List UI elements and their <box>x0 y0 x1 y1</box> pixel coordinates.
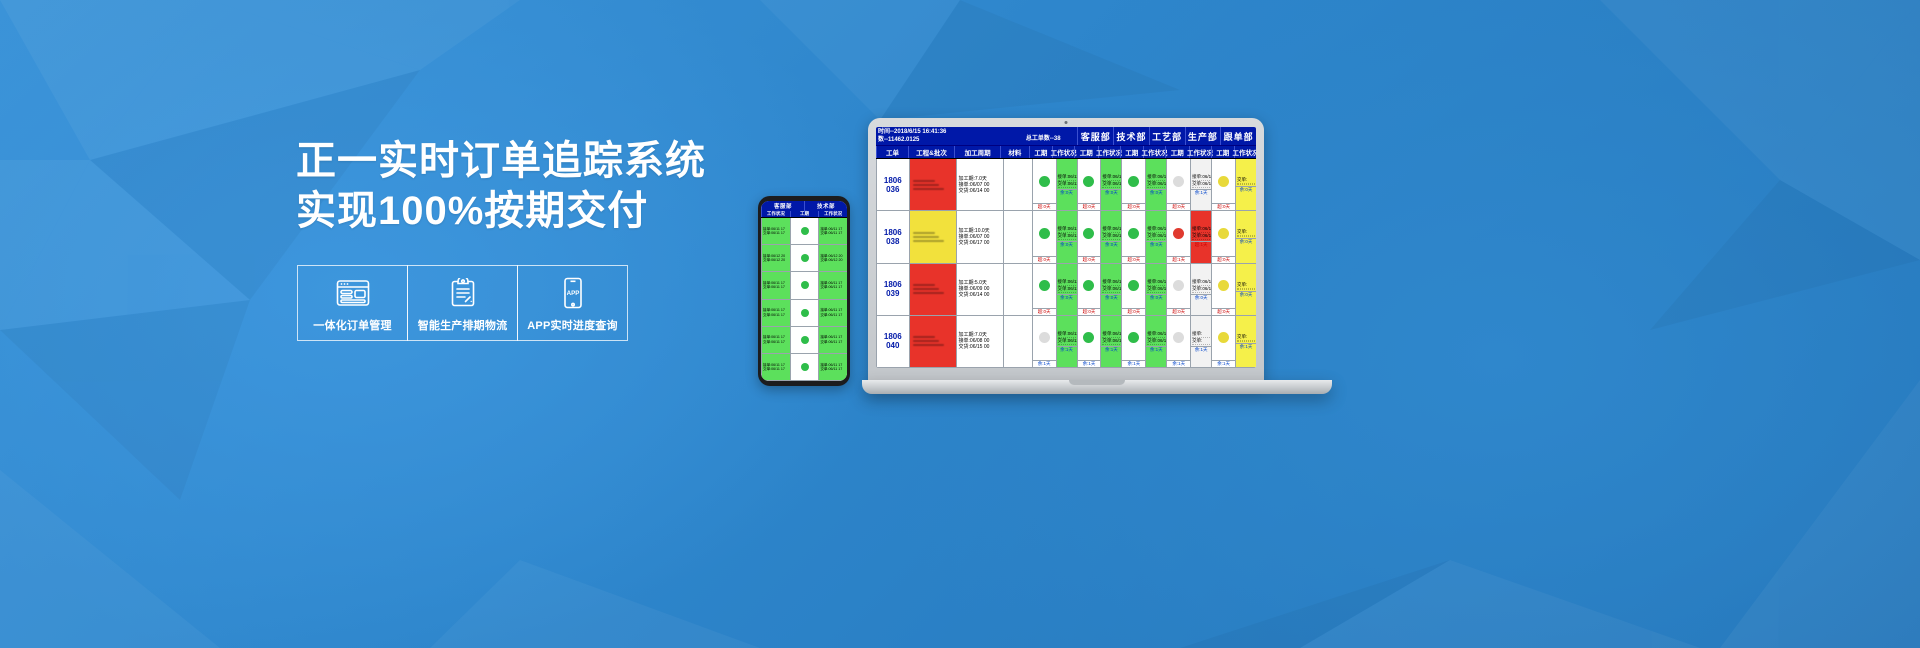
status-dot-icon <box>801 363 809 371</box>
status-dot-icon <box>1083 176 1094 187</box>
dept-status-cell[interactable]: 接单:06/12 20交单:06/12 20余:0天 <box>1056 211 1077 262</box>
dept-header: 工艺部 <box>1149 127 1185 145</box>
feature-label: 一体化订单管理 <box>313 317 391 333</box>
phone-grid-cell[interactable] <box>791 218 819 245</box>
duration-tag: 余:1天 <box>1078 360 1101 367</box>
phone-grid-cell[interactable]: 接单:06/11 17交单:06/11 17 <box>819 218 847 245</box>
dept-duration-cell[interactable]: 余:1天 <box>1166 316 1190 367</box>
column-header: 材料 <box>1000 146 1028 158</box>
status-dot-icon <box>1173 332 1184 343</box>
dept-status-cell[interactable]: 接单:06/11 17交单:06/11 17余:0天 <box>1100 264 1121 315</box>
laptop-screen: 时间--2018/6/15 16:41:36 数--11462.0125 总工单… <box>876 127 1256 368</box>
status-dot-icon <box>1083 280 1094 291</box>
column-header: 工作状况 <box>1189 146 1211 158</box>
duration-tag: 余:1天 <box>1033 360 1056 367</box>
duration-tag: 超:1天 <box>1167 256 1190 263</box>
status-dot-icon <box>1128 176 1139 187</box>
duration-tag: 超:0天 <box>1122 308 1145 315</box>
feature-label: 智能生产排期物流 <box>418 317 508 333</box>
column-header: 工作状况 <box>1143 146 1165 158</box>
phone-grid-cell[interactable]: 接单:06/11 17交单:06/11 17 <box>762 300 790 327</box>
table-row[interactable]: 1806038加工期:10.0天接单:06/07 00交货:06/17 00超:… <box>876 211 1256 263</box>
phone-grid-column[interactable] <box>790 218 819 381</box>
status-dot-icon <box>801 281 809 289</box>
phone-grid-cell[interactable] <box>791 327 819 354</box>
duration-tag: 超:0天 <box>1212 203 1235 210</box>
status-tag: 余:0天 <box>1146 189 1166 196</box>
column-header: 工作状况 <box>1234 146 1256 158</box>
column-header: 工单 <box>876 146 908 158</box>
phone-dept: 客服部 <box>761 201 804 211</box>
material-cell[interactable] <box>1003 316 1032 367</box>
phone-screen: 客服部 技术部 工作状况 工期 工作状况 接单:06/11 17交单:06/11… <box>761 201 847 381</box>
headline-line-2: 实现100%按期交付 <box>296 186 816 236</box>
status-tag: 余:0天 <box>1236 291 1256 298</box>
dept-status-cell[interactable]: 交单:余:0天 <box>1235 211 1256 262</box>
order-tracking-dashboard: 时间--2018/6/15 16:41:36 数--11462.0125 总工单… <box>876 127 1256 368</box>
project-batch-cell[interactable] <box>909 264 956 315</box>
dept-duration-cell[interactable]: 超:0天 <box>1032 159 1056 210</box>
duration-tag: 超:0天 <box>1078 256 1101 263</box>
status-tag: 余:1天 <box>1146 346 1166 353</box>
status-tag: 余:0天 <box>1057 294 1077 301</box>
status-dot-icon <box>1128 332 1139 343</box>
phone-grid-cell[interactable]: 接单:06/12 20交单:06/12 20 <box>819 245 847 272</box>
clipboard-pen-icon <box>449 278 477 308</box>
dept-status-cell[interactable]: 接单:06/11 17交单:06/11 17余:0天 <box>1145 159 1166 210</box>
status-tag: 余:0天 <box>1146 241 1166 248</box>
status-dot-icon <box>801 254 809 262</box>
dashboard-count: 数--11462.0125 <box>878 136 1007 144</box>
phone-grid-cell[interactable]: 接单:06/11 17交单:06/11 17 <box>819 272 847 299</box>
dept-header: 生产部 <box>1185 127 1221 145</box>
duration-tag: 超:0天 <box>1212 256 1235 263</box>
dept-duration-cell[interactable]: 余:1天 <box>1121 316 1145 367</box>
dept-status-cell[interactable]: 交单:余:1天 <box>1235 316 1256 367</box>
dept-status-cell[interactable]: 交单:余:0天 <box>1235 159 1256 210</box>
duration-tag: 超:0天 <box>1033 203 1056 210</box>
dept-header-row: 客服部技术部工艺部生产部跟单部 <box>1077 127 1256 145</box>
status-tag: 余:0天 <box>1236 238 1256 245</box>
status-tag: 余:0天 <box>1146 294 1166 301</box>
status-tag: 余:1天 <box>1101 346 1121 353</box>
duration-tag: 余:1天 <box>1212 360 1235 367</box>
status-dot-icon <box>1128 228 1139 239</box>
status-dot-icon <box>1083 228 1094 239</box>
status-tag: 超:1天 <box>1191 241 1211 248</box>
column-header: 工期 <box>1211 146 1234 158</box>
project-batch-cell[interactable] <box>909 159 956 210</box>
dept-duration-cell[interactable]: 超:0天 <box>1032 211 1056 262</box>
phone-grid-cell[interactable] <box>791 245 819 272</box>
dept-duration-cell[interactable]: 余:1天 <box>1032 316 1056 367</box>
phone-dept-header: 客服部 技术部 <box>761 201 847 211</box>
dept-status-cell[interactable]: 接单:06/11 17交单:06/11 17余:0天 <box>1056 264 1077 315</box>
dashboard-info: 时间--2018/6/15 16:41:36 数--11462.0125 <box>876 127 1009 145</box>
status-tag: 余:0天 <box>1057 241 1077 248</box>
dept-status-cell[interactable]: 接单:06/11 17交单:06/11 17余:1天 <box>1145 316 1166 367</box>
status-dot-icon <box>1218 332 1229 343</box>
duration-tag: 超:0天 <box>1212 308 1235 315</box>
dept-duration-cell[interactable]: 余:1天 <box>1211 316 1235 367</box>
status-tag: 余:1天 <box>1057 346 1077 353</box>
status-dot-icon <box>1039 176 1050 187</box>
svg-text:APP: APP <box>566 290 579 297</box>
mobile-app-icon: APP <box>561 278 585 308</box>
status-dot-icon <box>801 227 809 235</box>
phone-grid-column[interactable]: 接单:06/11 17交单:06/11 17接单:06/12 20交单:06/1… <box>818 218 847 381</box>
feature-item-app-progress-query[interactable]: APP APP实时进度查询 <box>517 265 628 341</box>
duration-tag: 超:0天 <box>1033 308 1056 315</box>
status-dot-icon <box>1173 280 1184 291</box>
status-dot-icon <box>1039 228 1050 239</box>
order-number-cell[interactable]: 1806040 <box>876 316 909 367</box>
phone-col: 工作状况 <box>818 211 847 217</box>
browser-window-icon <box>336 278 370 308</box>
phone-grid-cell[interactable] <box>791 354 819 381</box>
status-dot-icon <box>801 336 809 344</box>
duration-tag: 超:0天 <box>1122 203 1145 210</box>
phone-grid-cell[interactable]: 接单:06/12 20交单:06/12 20 <box>762 245 790 272</box>
headline-block: 正一实时订单追踪系统 实现100%按期交付 <box>296 136 816 236</box>
dashboard-time: 时间--2018/6/15 16:41:36 <box>878 128 1007 136</box>
order-number-cell[interactable]: 1806039 <box>876 264 909 315</box>
headline-line-1: 正一实时订单追踪系统 <box>296 136 816 186</box>
dept-duration-cell[interactable]: 超:0天 <box>1211 159 1235 210</box>
duration-tag: 超:0天 <box>1122 256 1145 263</box>
column-header-row: 工单工程&批次加工周期材料工期工作状况工期工作状况工期工作状况工期工作状况工期工… <box>876 146 1256 159</box>
dept-duration-cell[interactable]: 超:0天 <box>1211 264 1235 315</box>
project-batch-cell[interactable] <box>909 211 956 262</box>
column-header: 加工周期 <box>954 146 1000 158</box>
feature-item-production-scheduling[interactable]: 智能生产排期物流 <box>407 265 518 341</box>
table-row[interactable]: 1806036加工期:7.0天接单:06/07 00交货:06/14 00超:0… <box>876 159 1256 211</box>
processing-cycle-cell[interactable]: 加工期:10.0天接单:06/07 00交货:06/17 00 <box>956 211 1003 262</box>
status-dot-icon <box>1128 280 1139 291</box>
status-dot-icon <box>1083 332 1094 343</box>
duration-tag: 超:0天 <box>1078 203 1101 210</box>
duration-tag: 超:0天 <box>1167 203 1190 210</box>
phone-grid-cell[interactable]: 接单:06/11 17交单:06/11 17 <box>762 218 790 245</box>
order-number-cell[interactable]: 1806038 <box>876 211 909 262</box>
feature-item-order-management[interactable]: 一体化订单管理 <box>297 265 408 341</box>
phone-grid-column[interactable]: 接单:06/11 17交单:06/11 17接单:06/12 20交单:06/1… <box>761 218 790 381</box>
dept-duration-cell[interactable]: 超:0天 <box>1121 159 1145 210</box>
status-dot-icon <box>1173 228 1184 239</box>
dept-duration-cell[interactable]: 超:0天 <box>1032 264 1056 315</box>
dept-status-cell[interactable]: 接单:06/11 17交单:06/11 17余:0天 <box>1145 264 1166 315</box>
dashboard-topbar: 时间--2018/6/15 16:41:36 数--11462.0125 总工单… <box>876 127 1256 146</box>
status-tag: 余:1天 <box>1236 343 1256 350</box>
phone-col: 工作状况 <box>761 211 790 217</box>
material-cell[interactable] <box>1003 264 1032 315</box>
dept-status-cell[interactable]: 接单:06/13 10交单:06/14 00余:1天 <box>1190 159 1211 210</box>
processing-cycle-cell[interactable]: 加工期:5.0天接单:06/09 00交货:06/14 00 <box>956 264 1003 315</box>
phone-col-header: 工作状况 工期 工作状况 <box>761 211 847 218</box>
dept-duration-cell[interactable]: 超:0天 <box>1166 264 1190 315</box>
dept-status-cell[interactable]: 接单:06/14 00交单:06/14 14余:0天 <box>1145 211 1166 262</box>
status-dot-icon <box>1218 176 1229 187</box>
laptop-base <box>862 380 1332 394</box>
status-dot-icon <box>1173 176 1184 187</box>
phone-grid-cell[interactable]: 接单:06/11 17交单:06/11 17 <box>819 354 847 381</box>
phone-grid-cell[interactable]: 接单:06/11 17交单:06/11 17 <box>762 272 790 299</box>
dept-duration-cell[interactable]: 超:0天 <box>1077 159 1101 210</box>
total-orders: 总工单数--38 <box>1009 127 1077 145</box>
status-tag: 余:1天 <box>1191 346 1211 353</box>
promo-banner: 正一实时订单追踪系统 实现100%按期交付 一体化订单管理 <box>0 0 1920 648</box>
dept-status-cell[interactable]: 接单:06/14 14交单:06/16 00超:1天 <box>1190 211 1211 262</box>
laptop-mockup: 时间--2018/6/15 16:41:36 数--11462.0125 总工单… <box>862 118 1332 418</box>
phone-grid-cell[interactable]: 接单:06/11 17交单:06/11 17 <box>819 300 847 327</box>
status-dot-icon <box>1218 280 1229 291</box>
column-header: 工作状况 <box>1098 146 1120 158</box>
phone-grid-cell[interactable]: 接单:06/11 17交单:06/11 17 <box>762 354 790 381</box>
status-tag: 余:1天 <box>1191 189 1211 196</box>
status-dot-icon <box>1039 280 1050 291</box>
status-dot-icon <box>1218 228 1229 239</box>
status-tag: 余:0天 <box>1101 189 1121 196</box>
dept-duration-cell[interactable]: 超:0天 <box>1121 264 1145 315</box>
dept-duration-cell[interactable]: 余:1天 <box>1077 316 1101 367</box>
dept-status-cell[interactable]: 接单:06/11 17交单:06/11 17余:1天 <box>1056 316 1077 367</box>
duration-tag: 超:0天 <box>1167 308 1190 315</box>
status-dot-icon <box>801 309 809 317</box>
order-number-cell[interactable]: 1806036 <box>876 159 909 210</box>
processing-cycle-cell[interactable]: 加工期:7.0天接单:06/07 00交货:06/14 00 <box>956 159 1003 210</box>
phone-dept: 技术部 <box>804 201 847 211</box>
column-header: 工程&批次 <box>908 146 954 158</box>
dept-header: 客服部 <box>1077 127 1113 145</box>
duration-tag: 超:0天 <box>1033 256 1056 263</box>
dept-status-cell[interactable]: 接单:06/12 20交单:06/14 00余:0天 <box>1100 211 1121 262</box>
dept-status-cell[interactable]: 接单:06/12 09交单:06/12 09余:0天 <box>1190 264 1211 315</box>
dept-header: 跟单部 <box>1220 127 1256 145</box>
dept-duration-cell[interactable]: 超:0天 <box>1077 211 1101 262</box>
phone-grid[interactable]: 接单:06/11 17交单:06/11 17接单:06/12 20交单:06/1… <box>761 218 847 381</box>
phone-grid-cell[interactable] <box>791 300 819 327</box>
column-header: 工期 <box>1029 146 1052 158</box>
webcam-dot <box>1065 121 1068 124</box>
laptop-lid: 时间--2018/6/15 16:41:36 数--11462.0125 总工单… <box>868 118 1264 386</box>
dept-duration-cell[interactable]: 超:0天 <box>1121 211 1145 262</box>
phone-grid-cell[interactable]: 接单:06/11 17交单:06/11 17 <box>762 327 790 354</box>
feature-label: APP实时进度查询 <box>527 317 617 333</box>
table-row[interactable]: 1806040加工期:7.0天接单:06/08 00交货:06/15 00余:1… <box>876 316 1256 368</box>
dept-status-cell[interactable]: 交单:余:0天 <box>1235 264 1256 315</box>
phone-grid-cell[interactable] <box>791 272 819 299</box>
phone-grid-cell[interactable]: 接单:06/11 17交单:06/11 17 <box>819 327 847 354</box>
phone-mockup: 客服部 技术部 工作状况 工期 工作状况 接单:06/11 17交单:06/11… <box>758 196 850 386</box>
project-batch-cell[interactable] <box>909 316 956 367</box>
dept-duration-cell[interactable]: 超:0天 <box>1211 211 1235 262</box>
table-row[interactable]: 1806039加工期:5.0天接单:06/09 00交货:06/14 00超:0… <box>876 264 1256 316</box>
dashboard-rows[interactable]: 1806036加工期:7.0天接单:06/07 00交货:06/14 00超:0… <box>876 159 1256 368</box>
status-tag: 余:0天 <box>1101 294 1121 301</box>
dept-duration-cell[interactable]: 超:0天 <box>1077 264 1101 315</box>
laptop-notch <box>1069 380 1125 385</box>
dept-status-cell[interactable]: 接单:06/11 17交单:06/11 17余:1天 <box>1100 316 1121 367</box>
dept-duration-cell[interactable]: 超:0天 <box>1166 159 1190 210</box>
dept-status-cell[interactable]: 接单:06/11 17交单:06/11 17余:0天 <box>1100 159 1121 210</box>
status-tag: 余:0天 <box>1057 189 1077 196</box>
material-cell[interactable] <box>1003 159 1032 210</box>
status-tag: 余:0天 <box>1191 294 1211 301</box>
column-header: 工作状况 <box>1052 146 1074 158</box>
duration-tag: 余:1天 <box>1122 360 1145 367</box>
column-header: 工期 <box>1165 146 1188 158</box>
column-header: 工期 <box>1074 146 1097 158</box>
phone-col: 工期 <box>790 211 819 217</box>
status-dot-icon <box>1039 332 1050 343</box>
column-header: 工期 <box>1120 146 1143 158</box>
processing-cycle-cell[interactable]: 加工期:7.0天接单:06/08 00交货:06/15 00 <box>956 316 1003 367</box>
status-tag: 余:0天 <box>1101 241 1121 248</box>
status-tag: 余:0天 <box>1236 186 1256 193</box>
material-cell[interactable] <box>1003 211 1032 262</box>
duration-tag: 超:0天 <box>1078 308 1101 315</box>
duration-tag: 余:1天 <box>1167 360 1190 367</box>
dept-header: 技术部 <box>1113 127 1149 145</box>
dept-status-cell[interactable]: 接单:06/11 17交单:06/11 17余:0天 <box>1056 159 1077 210</box>
dept-duration-cell[interactable]: 超:1天 <box>1166 211 1190 262</box>
dept-status-cell[interactable]: 接单:交单:余:1天 <box>1190 316 1211 367</box>
feature-list: 一体化订单管理 智能生产排期物流 <box>297 265 627 341</box>
